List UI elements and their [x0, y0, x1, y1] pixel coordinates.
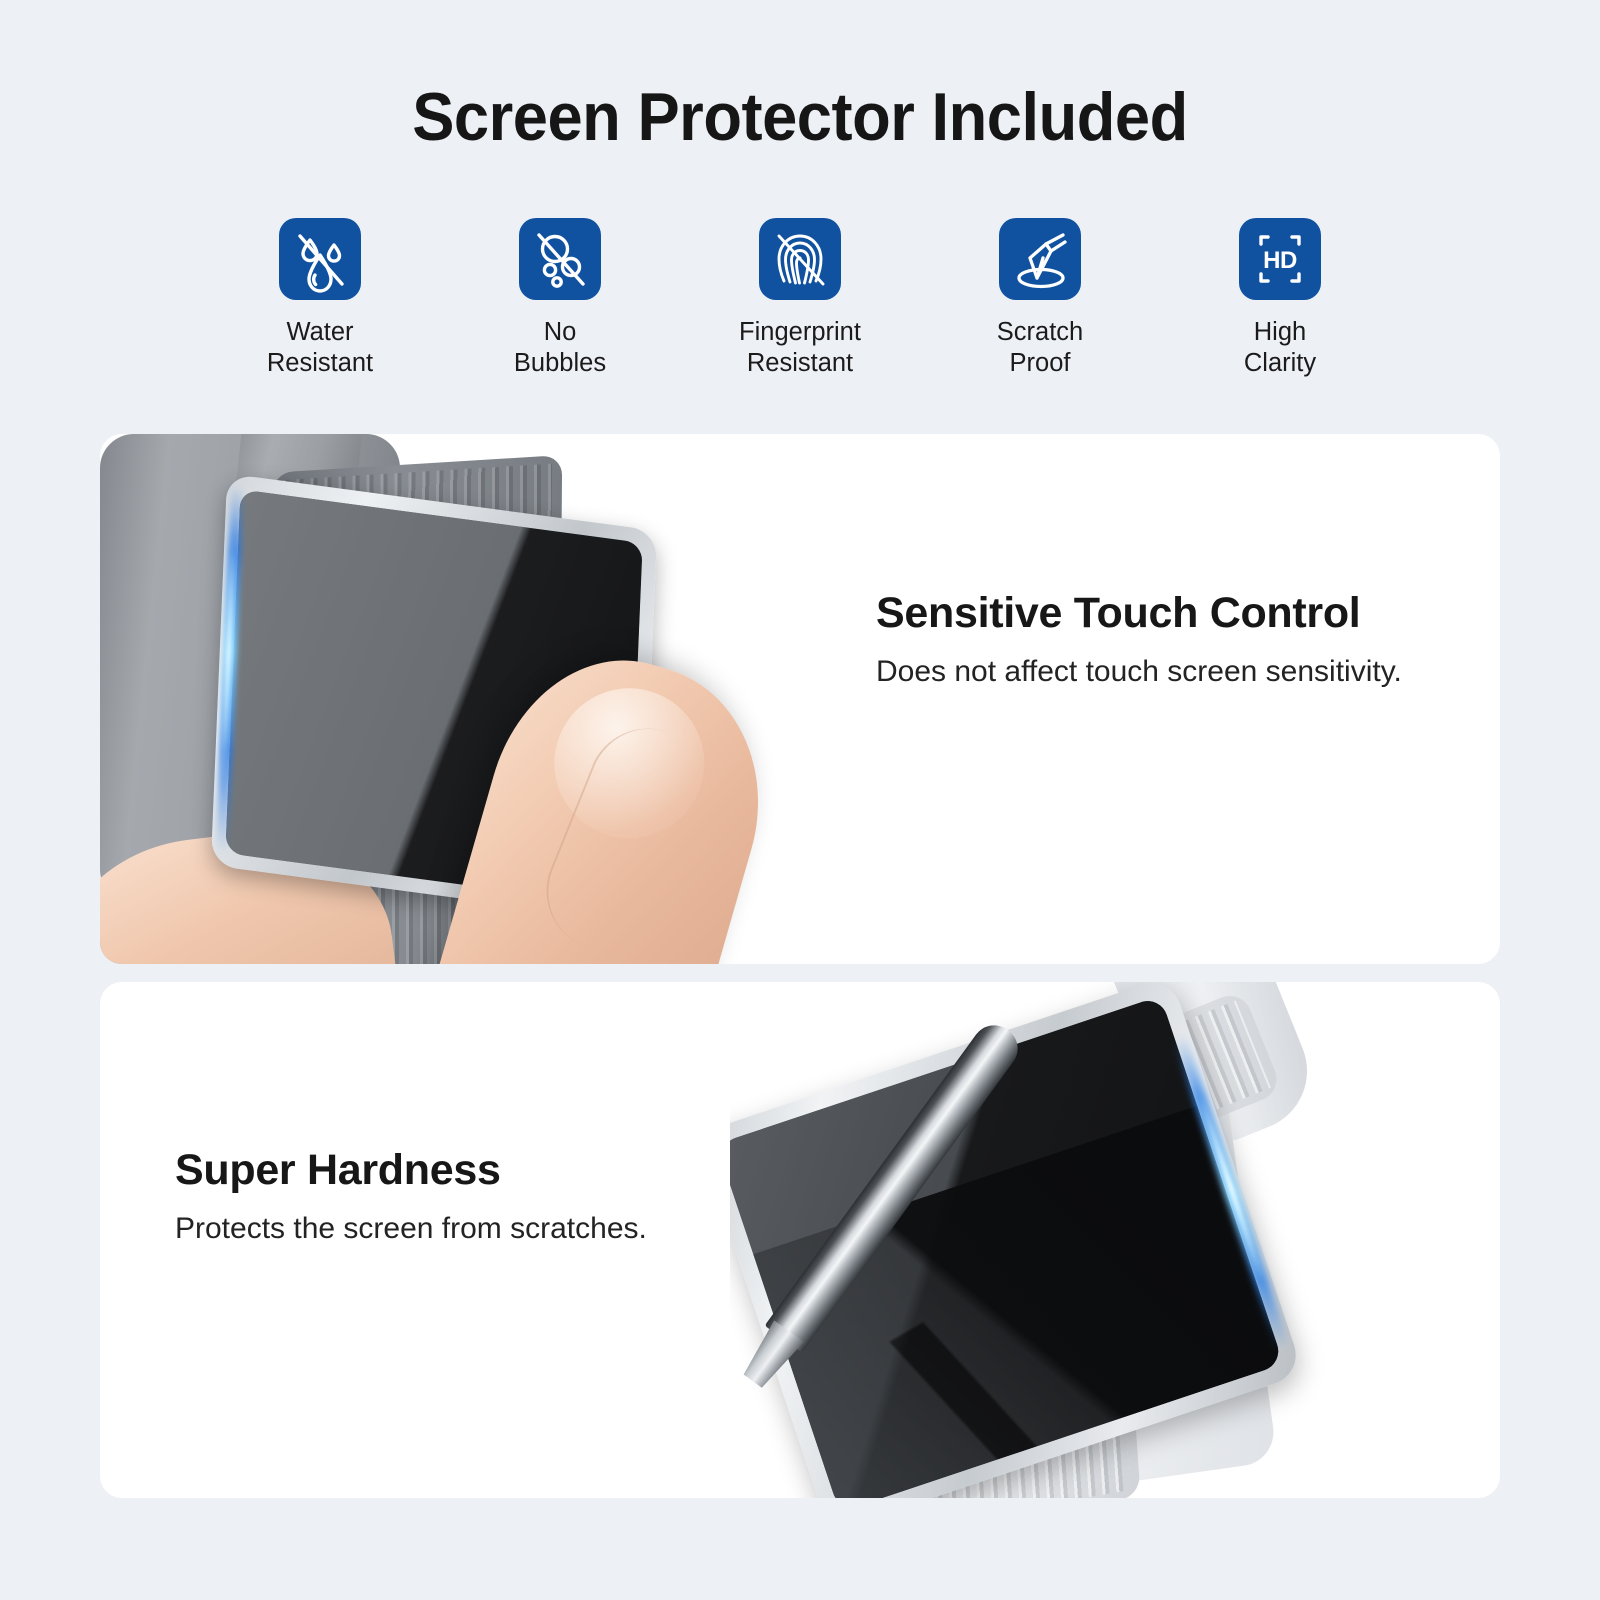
panel-subline: Protects the screen from scratches.: [175, 1212, 647, 1246]
hd-frame-icon: HD: [1239, 218, 1321, 300]
bubbles-slash-icon: [519, 218, 601, 300]
feature-high-clarity: HD High Clarity: [1188, 218, 1372, 379]
panel-sensitive-touch-control: Sensitive Touch Control Does not affect …: [100, 434, 1500, 964]
feature-water-resistant: Water Resistant: [228, 218, 412, 379]
feature-no-bubbles: No Bubbles: [468, 218, 652, 379]
feature-fingerprint-resistant: Fingerprint Resistant: [708, 218, 892, 379]
water-drop-slash-icon: [279, 218, 361, 300]
panel-super-hardness: Super Hardness Protects the screen from …: [100, 982, 1500, 1498]
feature-label: Water Resistant: [267, 317, 373, 379]
infographic-page: Screen Protector Included Water Resistan: [0, 0, 1600, 1600]
blade-scratch-icon: [999, 218, 1081, 300]
feature-icon-row: Water Resistant No Bubbles: [228, 218, 1372, 379]
svg-text:HD: HD: [1263, 247, 1297, 274]
panel-subline: Does not affect touch screen sensitivity…: [876, 655, 1402, 689]
product-photo-touch: [100, 434, 860, 964]
panel-headline: Super Hardness: [175, 1146, 501, 1195]
feature-label: Scratch Proof: [997, 317, 1083, 379]
product-photo-scratch: [730, 982, 1500, 1498]
fingerprint-slash-icon: [759, 218, 841, 300]
feature-scratch-proof: Scratch Proof: [948, 218, 1132, 379]
feature-label: Fingerprint Resistant: [739, 317, 861, 379]
feature-label: High Clarity: [1244, 317, 1316, 379]
feature-label: No Bubbles: [514, 317, 606, 379]
page-title: Screen Protector Included: [56, 78, 1544, 156]
panel-headline: Sensitive Touch Control: [876, 589, 1360, 638]
